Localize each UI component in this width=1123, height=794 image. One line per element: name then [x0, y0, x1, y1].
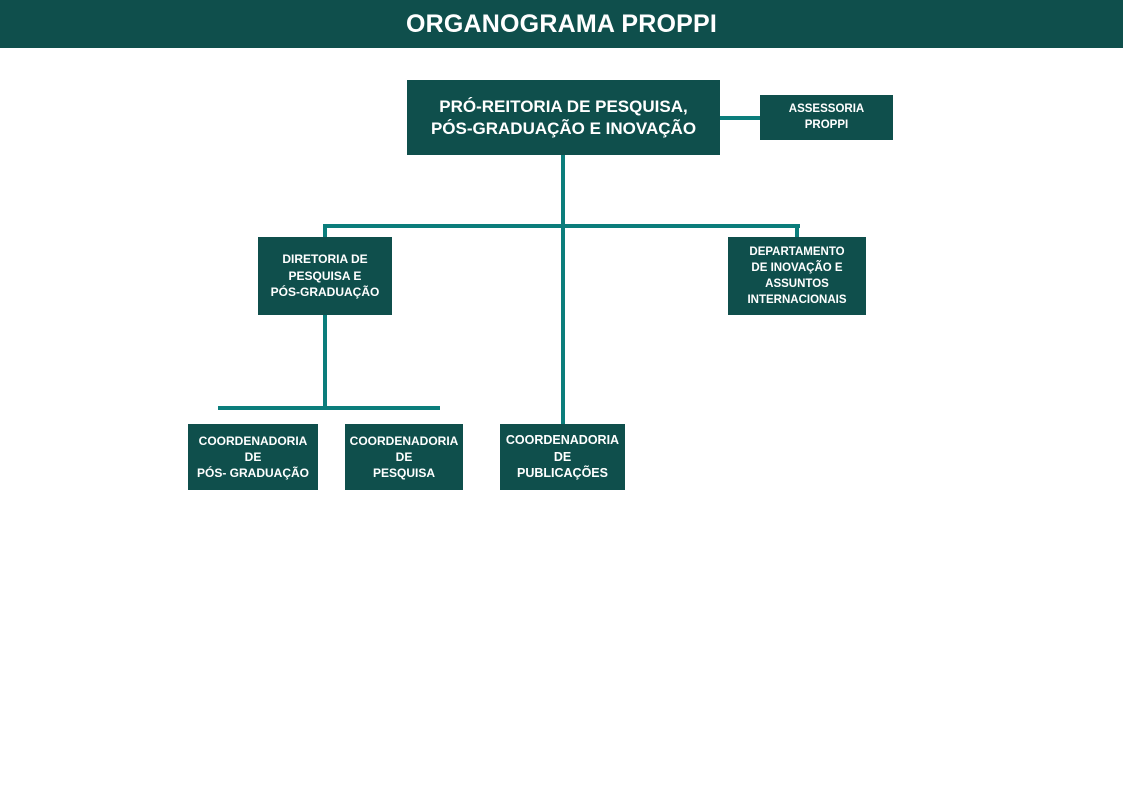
connector-bus-to-diretoria	[323, 224, 327, 237]
org-node-departamento-inovacao-assuntos-internacionais[interactable]: DEPARTAMENTO DE INOVAÇÃO E ASSUNTOS INTE…	[728, 237, 866, 315]
connector-root-to-assessoria	[720, 116, 760, 120]
org-node-assessoria-proppi[interactable]: ASSESSORIA PROPPI	[760, 95, 893, 140]
connector-level3-bus	[218, 406, 440, 410]
org-node-coordenadoria-publicacoes[interactable]: COORDENADORIA DE PUBLICAÇÕES	[500, 424, 625, 490]
connector-root-trunk	[561, 155, 565, 424]
org-node-label: COORDENADORIA DE PÓS- GRADUAÇÃO	[188, 433, 318, 482]
org-node-label: COORDENADORIA DE PESQUISA	[345, 433, 463, 482]
org-node-coordenadoria-pos-graduacao[interactable]: COORDENADORIA DE PÓS- GRADUAÇÃO	[188, 424, 318, 490]
page-title-bar: ORGANOGRAMA PROPPI	[0, 0, 1123, 48]
org-node-label: DIRETORIA DE PESQUISA E PÓS-GRADUAÇÃO	[258, 251, 392, 301]
connector-diretoria-trunk	[323, 315, 327, 408]
org-node-diretoria-pesquisa-pos-graduacao[interactable]: DIRETORIA DE PESQUISA E PÓS-GRADUAÇÃO	[258, 237, 392, 315]
connector-level2-bus	[325, 224, 800, 228]
page-title: ORGANOGRAMA PROPPI	[406, 12, 717, 37]
org-node-coordenadoria-pesquisa[interactable]: COORDENADORIA DE PESQUISA	[345, 424, 463, 490]
org-node-label: PRÓ-REITORIA DE PESQUISA, PÓS-GRADUAÇÃO …	[407, 96, 720, 139]
connector-bus-to-departamento	[795, 224, 799, 237]
org-node-label: COORDENADORIA DE PUBLICAÇÕES	[500, 432, 625, 483]
org-node-label: DEPARTAMENTO DE INOVAÇÃO E ASSUNTOS INTE…	[728, 244, 866, 308]
org-node-label: ASSESSORIA PROPPI	[760, 102, 893, 133]
organizational-chart: ORGANOGRAMA PROPPI PRÓ-REITORIA DE PESQU…	[0, 0, 1123, 794]
org-node-pro-reitoria[interactable]: PRÓ-REITORIA DE PESQUISA, PÓS-GRADUAÇÃO …	[407, 80, 720, 155]
